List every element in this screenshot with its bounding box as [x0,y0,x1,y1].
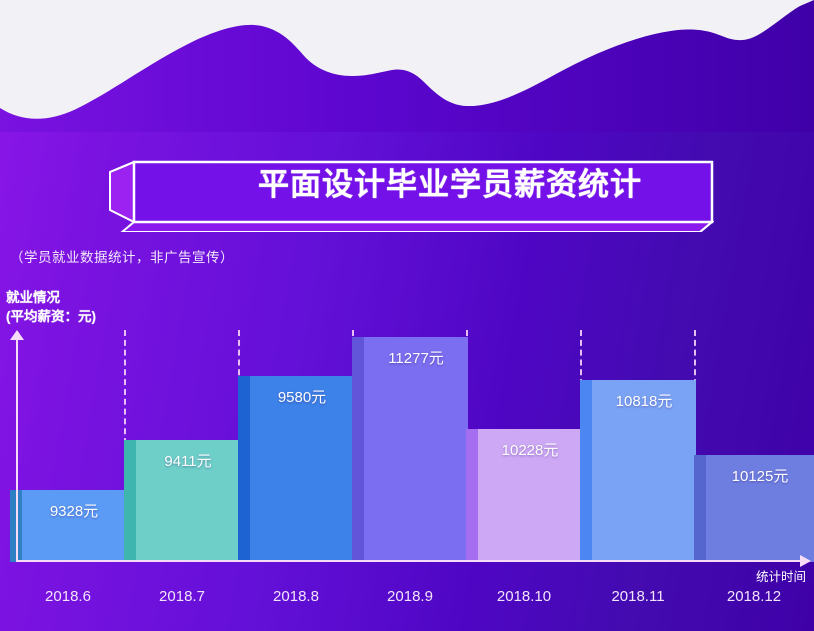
bar-2018.9[interactable]: 11277元 [352,337,468,562]
bar-value-label: 10228元 [478,439,582,460]
x-axis-label-strip: 2018.62018.72018.82018.92018.102018.1120… [0,578,814,631]
bar-front-face [364,337,468,562]
x-axis-label-2018.6: 2018.6 [10,588,126,605]
x-axis-label-2018.11: 2018.11 [580,588,696,605]
x-axis-label-2018.8: 2018.8 [238,588,354,605]
bar-value-label: 11277元 [364,347,468,368]
bar-side-face [124,440,136,562]
title-banner: 平面设计毕业学员薪资统计 [108,150,714,232]
y-axis-caption-line2: (平均薪资：元) [6,307,96,326]
x-axis-line [16,560,804,562]
top-wave-decoration [0,0,814,132]
bar-value-label: 9580元 [250,386,354,407]
bar-chart-plot-area: 9328元9411元9580元11277元10228元10818元10125元 [0,330,814,562]
y-axis-caption: 就业情况 (平均薪资：元) [6,288,96,326]
salary-statistics-poster: 平面设计毕业学员薪资统计 （学员就业数据统计，非广告宣传） 就业情况 (平均薪资… [0,0,814,631]
bar-2018.8[interactable]: 9580元 [238,376,354,562]
bar-value-label: 9411元 [136,450,240,471]
y-axis-line [16,335,18,561]
bar-2018.10[interactable]: 10228元 [466,429,582,562]
bar-value-label: 10125元 [706,465,814,486]
x-axis-label-2018.7: 2018.7 [124,588,240,605]
page-title: 平面设计毕业学员薪资统计 [200,150,700,212]
bar-side-face [694,455,706,562]
subtitle-note: （学员就业数据统计，非广告宣传） [10,246,234,266]
bar-2018.11[interactable]: 10818元 [580,380,696,562]
bar-2018.7[interactable]: 9411元 [124,440,240,562]
y-axis-caption-line1: 就业情况 [6,288,96,307]
bar-value-label: 10818元 [592,390,696,411]
x-axis-label-2018.12: 2018.12 [694,588,814,605]
bar-side-face [466,429,478,562]
bar-2018.6[interactable]: 9328元 [10,490,126,562]
bar-side-face [238,376,250,562]
x-axis-label-2018.9: 2018.9 [352,588,468,605]
x-axis-label-2018.10: 2018.10 [466,588,582,605]
bar-side-face [580,380,592,562]
bar-side-face [352,337,364,562]
bar-2018.12[interactable]: 10125元 [694,455,814,562]
bar-value-label: 9328元 [22,500,126,521]
